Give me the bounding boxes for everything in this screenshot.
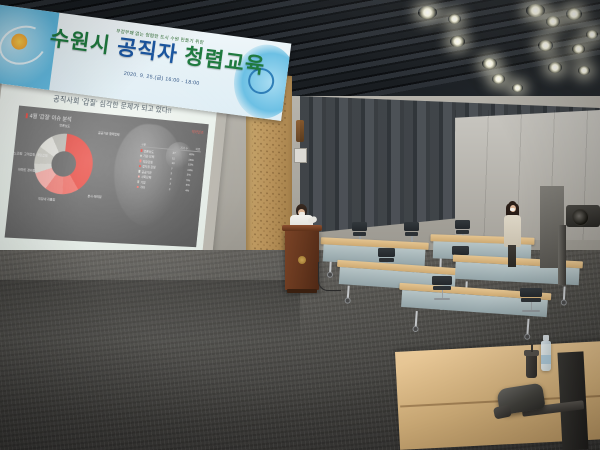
seminar-room-photo: 공직사회 '갑질' 심각한 문제가 되고 있다!! 4월 '갑질' 이슈 분석 … xyxy=(0,0,600,450)
donut-label-left: 노조원· 고객갑질· 국민갑질 xyxy=(14,151,36,157)
ceiling-light xyxy=(566,8,582,20)
wall-sconce xyxy=(296,120,304,142)
ceiling-light xyxy=(572,44,585,54)
chair-back xyxy=(378,248,395,257)
wall-sign xyxy=(294,148,307,163)
chair-back xyxy=(455,220,470,229)
ceiling-light xyxy=(450,36,465,47)
slide-section-heading: 4월 '갑질' 이슈 분석 xyxy=(25,111,72,123)
microphone-cable xyxy=(318,262,341,291)
donut-label-bottom-right: 본사-대리점 xyxy=(87,194,101,199)
chart-legend-table: 구분 기사 수 비율 언론보도 27 40% xyxy=(136,142,202,193)
ceiling-light xyxy=(578,66,590,75)
legend-swatch xyxy=(139,160,141,162)
podium-top-surface xyxy=(282,225,322,231)
chair-back xyxy=(452,246,469,255)
water-bottle-cap xyxy=(543,335,549,341)
water-bottle-label xyxy=(541,355,551,364)
ceiling-light xyxy=(586,30,598,39)
chair-back xyxy=(520,288,542,297)
attendee-torso xyxy=(504,215,521,247)
ceiling-light xyxy=(492,74,505,84)
legend-label: 기타 xyxy=(140,185,145,189)
ceiling-light xyxy=(538,40,553,51)
chair-back xyxy=(352,222,367,231)
bullet-marker xyxy=(26,113,28,118)
legend-ratio: 4% xyxy=(184,187,197,193)
donut-label-top: 언론보도 xyxy=(59,123,70,128)
attendee-legs xyxy=(508,245,516,267)
ceiling-light xyxy=(418,6,437,19)
legend-count: 3 xyxy=(168,186,185,192)
donut-label-right: 공공기관 협력업체 xyxy=(98,131,120,137)
ceiling-light xyxy=(546,16,560,27)
legend-swatch xyxy=(139,165,141,167)
ceiling-light xyxy=(448,14,461,24)
legend-swatch xyxy=(140,155,142,157)
chair-back xyxy=(432,276,452,285)
ceiling-light xyxy=(548,62,562,73)
slide-section-heading-text: 4월 '갑질' 이슈 분석 xyxy=(29,114,72,124)
coffee-cup-straw xyxy=(531,344,533,352)
slide-source-label: 빅카인즈 xyxy=(191,130,203,136)
slide-chart-panel: 4월 '갑질' 이슈 분석 빅카인즈 언론보도 노조원· 고객갑질· 국민갑질 … xyxy=(5,106,209,248)
wooden-podium xyxy=(285,228,319,290)
legend-swatch xyxy=(137,186,139,188)
podium-base xyxy=(287,289,317,293)
legend-swatch xyxy=(137,181,139,183)
ceiling-light xyxy=(512,84,523,92)
iced-coffee-cup xyxy=(526,355,537,378)
donut-label-bottom: 직장내 괴롭힘 xyxy=(38,197,55,202)
camera-lens-icon xyxy=(572,209,589,226)
donut-label-lower-left: 아파트 경비원 xyxy=(12,167,36,173)
legend-swatch xyxy=(138,175,140,177)
podium-emblem xyxy=(298,256,306,264)
ceiling-light xyxy=(482,58,497,69)
legend-swatch xyxy=(138,170,140,172)
camera-stand xyxy=(558,225,566,285)
legend-swatch xyxy=(141,149,143,151)
chair-back xyxy=(404,222,419,231)
ceiling-light xyxy=(526,4,545,17)
